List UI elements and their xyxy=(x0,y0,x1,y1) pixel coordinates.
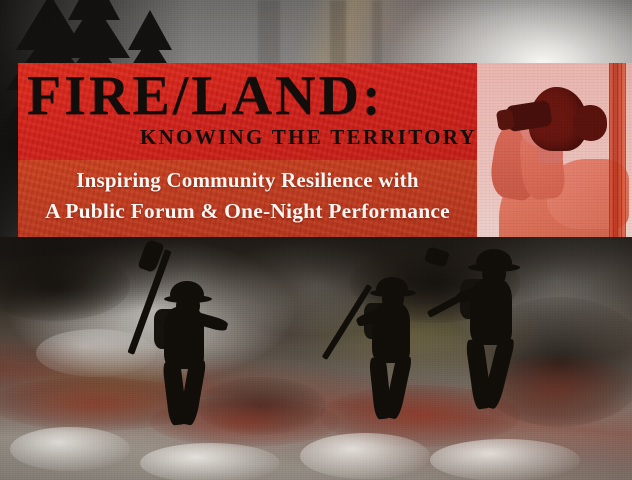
bottom-fireline-photo xyxy=(0,237,632,480)
ash-rock xyxy=(300,433,430,479)
ash-rock xyxy=(430,439,580,480)
page-subtitle: KNOWING THE TERRITORY xyxy=(27,125,487,150)
poster: FIRE/LAND: KNOWING THE TERRITORY Inspiri… xyxy=(0,0,632,480)
tagline-line-2: A Public Forum & One-Night Performance xyxy=(18,199,477,224)
ash-rock xyxy=(140,443,280,480)
ash-rock xyxy=(10,427,130,471)
page-title: FIRE/LAND: xyxy=(27,70,477,122)
tagline-line-1: Inspiring Community Resilience with xyxy=(18,168,477,193)
